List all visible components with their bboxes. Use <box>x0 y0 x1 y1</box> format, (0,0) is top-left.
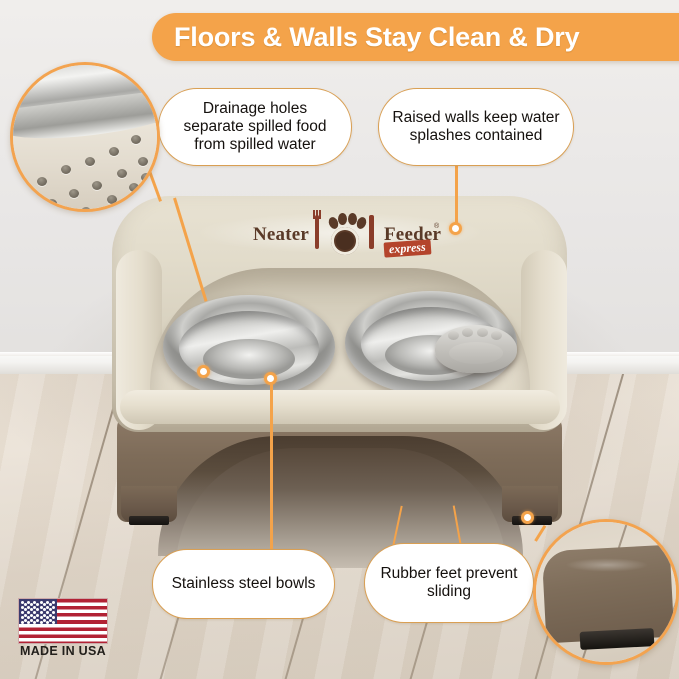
callout-text: Rubber feet prevent sliding <box>377 565 521 602</box>
callout-rubber-feet: Rubber feet prevent sliding <box>364 543 534 623</box>
callout-drainage-holes: Drainage holes separate spilled food fro… <box>158 88 352 166</box>
made-in-usa-badge: MADE IN USA <box>18 598 114 660</box>
knife-icon <box>369 215 374 249</box>
connector-line-bowls <box>270 378 273 550</box>
brand-logo: Neater Feeder ® express <box>253 210 439 258</box>
infographic-canvas: Neater Feeder ® express <box>0 0 679 679</box>
callout-text: Stainless steel bowls <box>172 575 316 593</box>
registered-mark: ® <box>434 223 439 230</box>
closeup-leg-highlight <box>552 556 662 574</box>
drainage-holes-closeup <box>10 62 160 212</box>
made-in-usa-label: MADE IN USA <box>18 644 108 658</box>
stainless-bowl-left <box>163 295 335 399</box>
page-title: Floors & Walls Stay Clean & Dry <box>174 22 579 53</box>
callout-text: Drainage holes separate spilled food fro… <box>171 100 339 155</box>
logo-word-neater: Neater <box>253 224 309 246</box>
connector-dot-walls <box>449 222 462 235</box>
connector-dot-drainage <box>197 365 210 378</box>
paw-toe-emboss <box>448 331 459 340</box>
callout-stainless-bowls: Stainless steel bowls <box>152 549 335 619</box>
rubber-foot-closeup <box>533 519 679 665</box>
callout-text: Raised walls keep water splashes contain… <box>391 109 561 146</box>
slow-feed-insert <box>435 325 517 373</box>
paw-toe-emboss <box>491 331 502 340</box>
paw-toe-emboss <box>462 328 473 337</box>
callout-raised-walls: Raised walls keep water splashes contain… <box>378 88 574 166</box>
paw-toe-emboss <box>477 328 488 337</box>
logo-sub-express: express <box>384 239 432 257</box>
paw-print-icon <box>323 213 367 257</box>
fork-icon <box>315 215 319 249</box>
title-banner: Floors & Walls Stay Clean & Dry <box>152 13 679 61</box>
us-flag-icon <box>18 598 108 644</box>
bowl-bottom <box>203 339 295 379</box>
connector-line-walls <box>455 166 458 228</box>
rubber-foot-left <box>129 516 169 525</box>
paw-pad-emboss <box>449 342 503 364</box>
flag-canton <box>19 599 57 624</box>
connector-dot-feet <box>521 511 534 524</box>
front-lip <box>120 390 560 424</box>
connector-dot-bowls <box>264 372 277 385</box>
